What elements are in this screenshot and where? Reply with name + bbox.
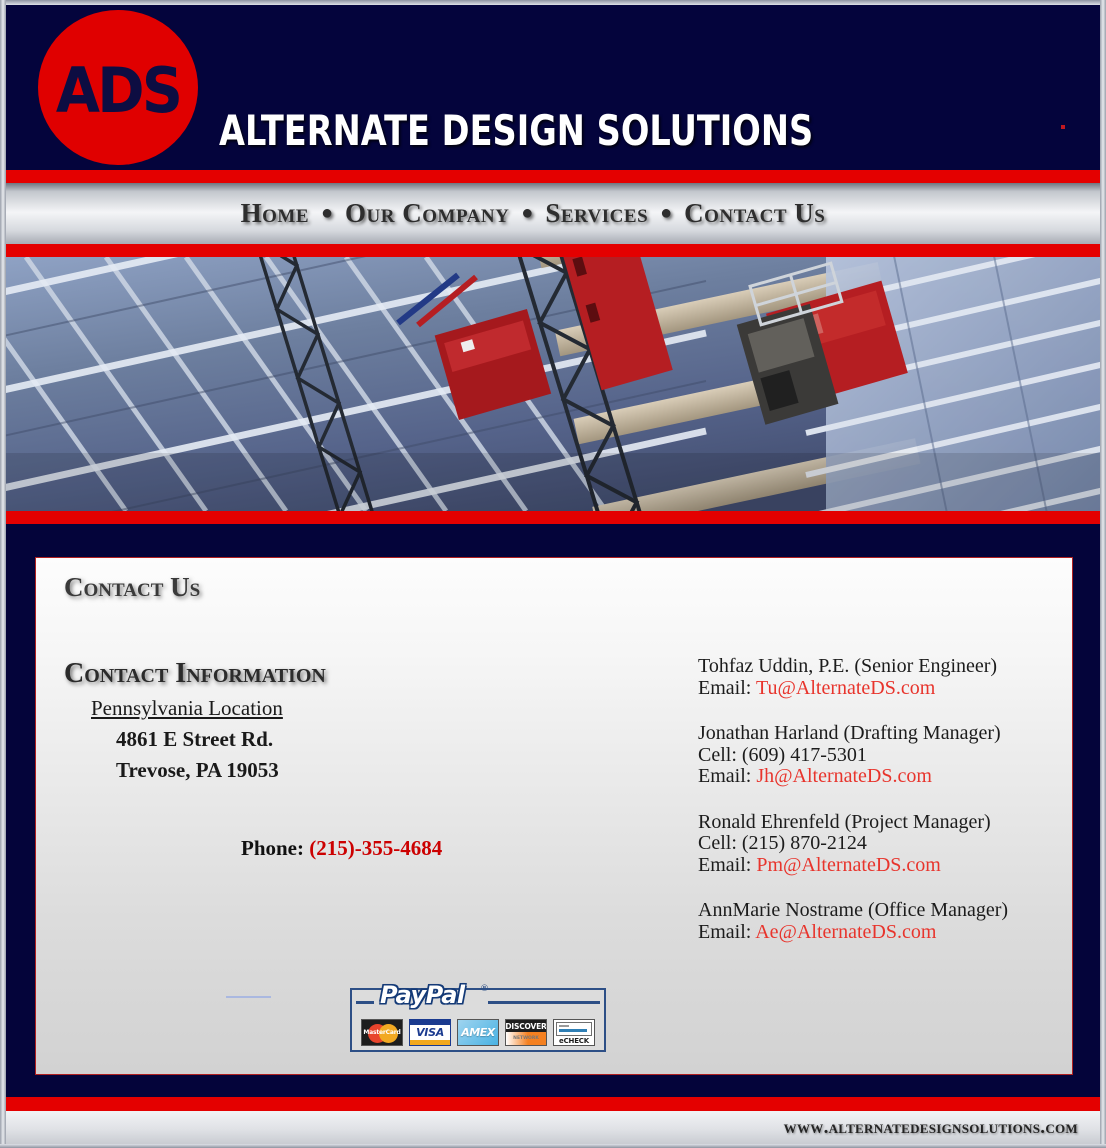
hero-banner-image bbox=[6, 257, 1100, 511]
contact-name: AnnMarie Nostrame (Office Manager) bbox=[698, 900, 1048, 922]
paypal-header: PayPal ® bbox=[352, 990, 604, 1015]
amex-label: AMEX bbox=[461, 1026, 494, 1039]
contact-email-line: Email: Jh@AlternateDS.com bbox=[698, 766, 1048, 788]
paypal-rule-left bbox=[356, 1001, 374, 1004]
contact-name: Tohfaz Uddin, P.E. (Senior Engineer) bbox=[698, 656, 1048, 678]
contact-email-line: Email: Tu@AlternateDS.com bbox=[698, 678, 1048, 700]
mastercard-label: MasterCard bbox=[363, 1029, 400, 1036]
contact-entry: AnnMarie Nostrame (Office Manager) Email… bbox=[698, 900, 1048, 943]
contact-entry: Tohfaz Uddin, P.E. (Senior Engineer) Ema… bbox=[698, 656, 1048, 699]
ads-logo[interactable]: ADS bbox=[38, 10, 198, 165]
contact-name: Ronald Ehrenfeld (Project Manager) bbox=[698, 812, 1048, 834]
location-address-line-2: Trevose, PA 19053 bbox=[91, 758, 283, 783]
echeck-icon: eCHECK bbox=[553, 1019, 595, 1046]
phone-line: Phone: (215)-355-4684 bbox=[241, 836, 442, 861]
site-header: ADS ALTERNATE DESIGN SOLUTIONS bbox=[6, 5, 1100, 170]
echeck-check-graphic bbox=[556, 1022, 592, 1036]
header-dot-artifact bbox=[1061, 125, 1065, 129]
email-address[interactable]: Pm@AlternateDS.com bbox=[756, 854, 941, 876]
divider-red-top bbox=[6, 170, 1100, 183]
contact-cell: Cell: (609) 417-5301 bbox=[698, 745, 1048, 767]
contact-email-line: Email: Pm@AlternateDS.com bbox=[698, 855, 1048, 877]
paypal-registered-mark: ® bbox=[480, 984, 489, 994]
paypal-card-logos: MasterCard VISA AMEX DISCOVER NETWORK bbox=[352, 1015, 604, 1050]
window-frame-bottom bbox=[0, 1144, 1106, 1148]
content-panel: Contact Us Contact Information Pennsylva… bbox=[35, 557, 1073, 1075]
discover-icon: DISCOVER NETWORK bbox=[505, 1019, 547, 1046]
email-address[interactable]: Jh@AlternateDS.com bbox=[756, 765, 932, 787]
section-title-contact-information: Contact Information bbox=[64, 658, 326, 690]
location-block: Pennsylvania Location 4861 E Street Rd. … bbox=[91, 696, 283, 783]
contact-name: Jonathan Harland (Drafting Manager) bbox=[698, 723, 1048, 745]
contact-entry: Jonathan Harland (Drafting Manager) Cell… bbox=[698, 723, 1048, 788]
paypal-wordmark: PayPal bbox=[380, 981, 465, 1009]
mastercard-icon: MasterCard bbox=[361, 1019, 403, 1046]
echeck-label: eCHECK bbox=[559, 1036, 589, 1045]
contact-entry: Ronald Ehrenfeld (Project Manager) Cell:… bbox=[698, 812, 1048, 877]
nav-separator-bullet-icon: ● bbox=[648, 202, 684, 225]
logo-text: ADS bbox=[44, 60, 191, 122]
email-label: Email: bbox=[698, 854, 751, 876]
email-label: Email: bbox=[698, 677, 751, 699]
visa-label: VISA bbox=[416, 1025, 444, 1040]
page-title: Contact Us bbox=[64, 572, 200, 603]
location-name: Pennsylvania Location bbox=[91, 696, 283, 721]
nav-separator-bullet-icon: ● bbox=[309, 202, 345, 225]
contact-cell: Cell: (215) 870-2124 bbox=[698, 833, 1048, 855]
hero-illustration bbox=[6, 257, 1100, 511]
paypal-rule-right bbox=[488, 1001, 600, 1004]
nav-item-services[interactable]: Services bbox=[545, 198, 648, 229]
contacts-list: Tohfaz Uddin, P.E. (Senior Engineer) Ema… bbox=[698, 656, 1048, 967]
amex-icon: AMEX bbox=[457, 1019, 499, 1046]
site-footer: www.alternatedesignsolutions.com bbox=[6, 1111, 1100, 1144]
echeck-line-1 bbox=[559, 1025, 569, 1027]
location-address-line-1: 4861 E Street Rd. bbox=[91, 727, 283, 752]
phone-label: Phone: bbox=[241, 836, 304, 860]
email-address[interactable]: Ae@AlternateDS.com bbox=[755, 921, 936, 943]
divider-red-footer bbox=[6, 1097, 1100, 1111]
footer-website-url[interactable]: www.alternatedesignsolutions.com bbox=[784, 1117, 1100, 1139]
empty-link-underline[interactable] bbox=[226, 996, 271, 998]
company-name: ALTERNATE DESIGN SOLUTIONS bbox=[219, 109, 813, 153]
email-label: Email: bbox=[698, 921, 751, 943]
phone-number[interactable]: (215)-355-4684 bbox=[309, 836, 442, 860]
visa-icon: VISA bbox=[409, 1019, 451, 1046]
window-frame-right bbox=[1100, 0, 1106, 1148]
divider-red-under-hero bbox=[6, 511, 1100, 524]
visa-bottom-bar bbox=[410, 1040, 450, 1045]
nav-item-contact-us[interactable]: Contact Us bbox=[684, 198, 825, 229]
discover-label: DISCOVER bbox=[506, 1020, 546, 1032]
paypal-payment-badge[interactable]: PayPal ® MasterCard VISA AMEX bbox=[350, 988, 606, 1052]
page-root: ADS ALTERNATE DESIGN SOLUTIONS Home ● Ou… bbox=[0, 0, 1106, 1148]
email-address[interactable]: Tu@AlternateDS.com bbox=[756, 677, 935, 699]
discover-sublabel: NETWORK bbox=[506, 1032, 546, 1045]
divider-red-under-nav bbox=[6, 244, 1100, 257]
contact-email-line: Email: Ae@AlternateDS.com bbox=[698, 922, 1048, 944]
nav-item-home[interactable]: Home bbox=[241, 198, 309, 229]
nav-separator-bullet-icon: ● bbox=[509, 202, 545, 225]
main-navigation: Home ● Our Company ● Services ● Contact … bbox=[6, 183, 1100, 244]
nav-item-our-company[interactable]: Our Company bbox=[345, 198, 509, 229]
echeck-line-2 bbox=[559, 1029, 587, 1032]
email-label: Email: bbox=[698, 765, 751, 787]
